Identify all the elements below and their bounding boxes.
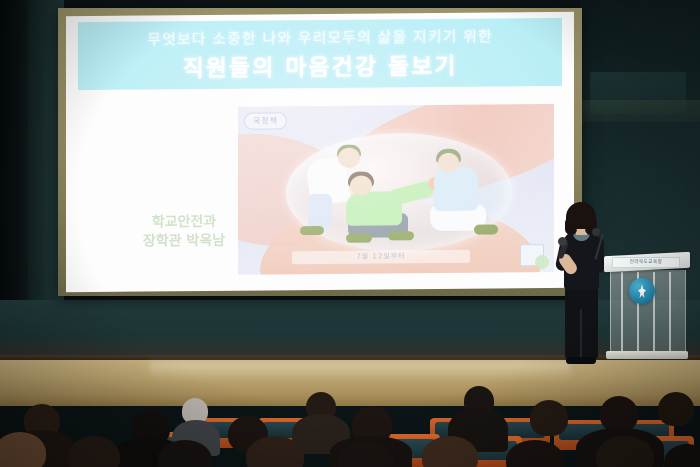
presenter-trouser-seam (580, 309, 582, 359)
figure-standing-head (338, 148, 360, 168)
presenter-shoes (566, 357, 596, 364)
audience-head (530, 400, 568, 436)
illustration-caption: 7월 12일부터 (292, 250, 470, 265)
figure-right-head (438, 153, 459, 172)
figure-center-head (350, 176, 372, 196)
illustration-badge: 국정책 (244, 112, 287, 129)
figure-center-shoe-left (346, 234, 372, 243)
podium-emblem-icon (629, 278, 655, 304)
figure-right-body (434, 167, 478, 211)
audience-head (658, 392, 694, 426)
slide-title-band: 무엇보다 소중한 나와 우리모두의 삶을 지키기 위한 직원들의 마음건강 돌보… (78, 18, 562, 90)
figure-standing-legs (308, 194, 332, 230)
podium-body (610, 270, 686, 352)
floor-reflection (150, 362, 570, 380)
podium-rib-1 (621, 272, 623, 354)
podium-mic-capsule-icon (592, 228, 600, 236)
illustration-caption-bar: 7월 12일부터 (292, 250, 470, 265)
slide-title: 직원들의 마음건강 돌보기 (78, 46, 562, 84)
projection-screen: 무엇보다 소중한 나와 우리모두의 삶을 지키기 위한 직원들의 마음건강 돌보… (66, 12, 574, 292)
podium-rib-4 (669, 272, 671, 354)
microphone-head-icon (558, 237, 567, 246)
podium-sign-label: 전라북도교육청 (613, 258, 679, 267)
figure-standing-shoe (300, 226, 324, 235)
illustration-logo-icon (520, 244, 544, 266)
slide-illustration: 국정책 7월 12일부터 (238, 104, 554, 275)
wall-panel-band (580, 100, 700, 122)
audience-head (600, 396, 638, 432)
presenter (556, 205, 608, 365)
figure-right-shoe (474, 224, 498, 234)
figure-center-shoe-right (388, 231, 414, 240)
podium-base (606, 351, 688, 359)
presenter-hair (566, 202, 596, 229)
photo-scene: 무엇보다 소중한 나와 우리모두의 삶을 지키기 위한 직원들의 마음건강 돌보… (0, 0, 700, 467)
podium: 전라북도교육청 (608, 268, 686, 366)
podium-sign: 전라북도교육청 (612, 257, 680, 268)
